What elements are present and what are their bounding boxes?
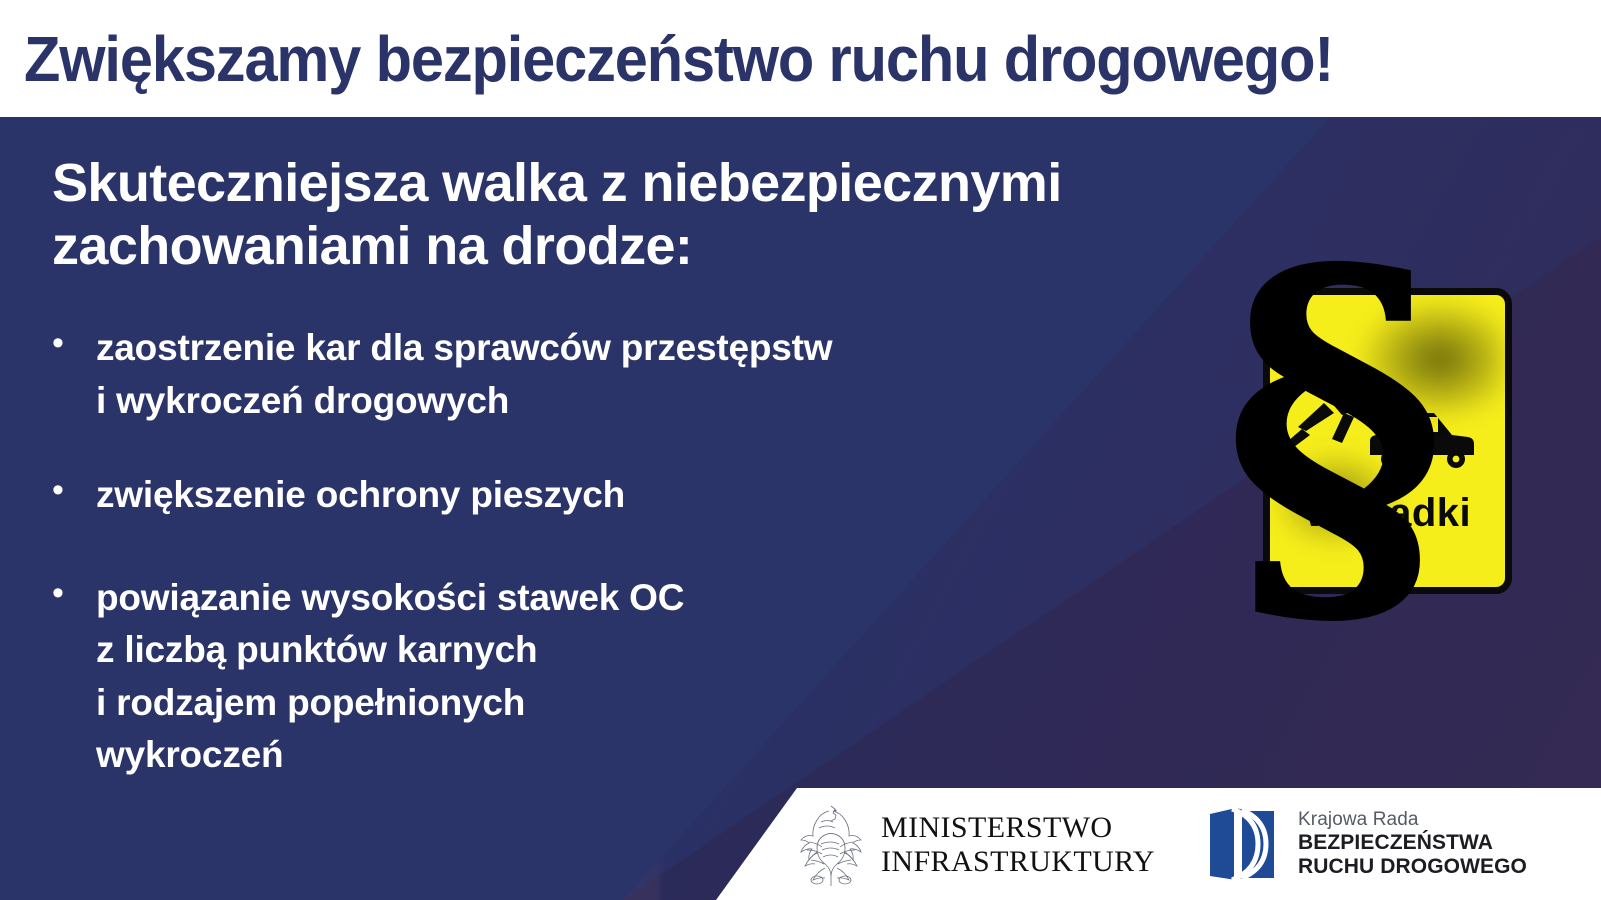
bullet-marker-icon: •: [52, 322, 96, 364]
section-heading: Skuteczniejsza walka z niebezpiecznymi z…: [52, 152, 1282, 278]
page-title: Zwiększamy bezpieczeństwo ruchu drogoweg…: [24, 14, 1475, 106]
ministry-logo: MINISTERSTWO INFRASTRUKTURY: [795, 802, 1155, 888]
list-item-text: powiązanie wysokości stawek OC z liczbą …: [96, 572, 684, 782]
bullet-list: • zaostrzenie kar dla sprawców przestęps…: [52, 322, 1132, 824]
council-line-2: BEZPIECZEŃSTWA: [1298, 831, 1527, 855]
krbrd-book-mark-icon: [1196, 804, 1282, 884]
list-item: • powiązanie wysokości stawek OC z liczb…: [52, 572, 1132, 782]
list-item-text: zwiększenie ochrony pieszych: [96, 469, 625, 522]
content-layer: Skuteczniejsza walka z niebezpiecznymi z…: [0, 117, 1601, 900]
council-logo: Krajowa Rada BEZPIECZEŃSTWA RUCHU DROGOW…: [1196, 804, 1527, 884]
slide-canvas: Wypadki § Skuteczniejsza walka z niebezp…: [0, 0, 1601, 900]
list-item: • zwiększenie ochrony pieszych: [52, 469, 1132, 522]
ministry-line-2: INFRASTRUKTURY: [881, 845, 1155, 879]
bullet-marker-icon: •: [52, 469, 96, 511]
council-line-3: RUCHU DROGOWEGO: [1298, 855, 1527, 879]
polish-eagle-emblem-icon: [795, 802, 867, 888]
bullet-marker-icon: •: [52, 572, 96, 614]
council-line-1: Krajowa Rada: [1298, 809, 1527, 831]
list-item-text: zaostrzenie kar dla sprawców przestępstw…: [96, 322, 832, 427]
list-item: • zaostrzenie kar dla sprawców przestęps…: [52, 322, 1132, 427]
ministry-line-1: MINISTERSTWO: [881, 811, 1155, 845]
footer-logos: MINISTERSTWO INFRASTRUKTURY Krajowa Rada…: [0, 788, 1601, 900]
title-bar: Zwiększamy bezpieczeństwo ruchu drogoweg…: [0, 0, 1601, 117]
